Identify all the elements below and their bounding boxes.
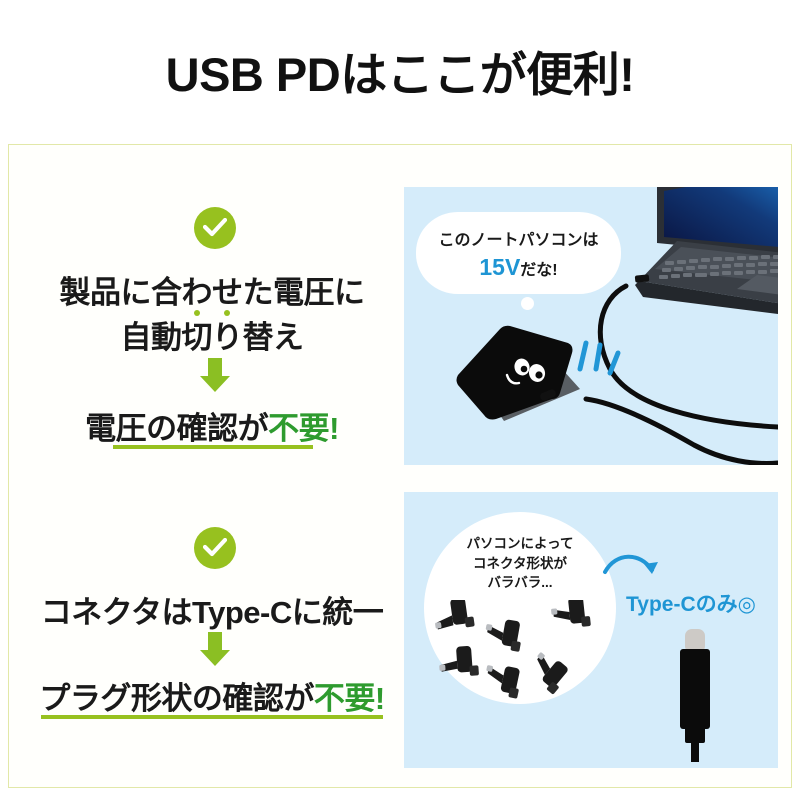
sparkle-1 xyxy=(580,343,586,369)
arrow-stem xyxy=(208,632,222,650)
plugs-caption-line-3: バラバラ... xyxy=(424,573,616,593)
plugs-caption-line-2: コネクタ形状が xyxy=(424,554,616,574)
illustration-panel-connector: パソコンによって コネクタ形状が バラバラ... xyxy=(404,492,778,768)
check-circle-icon xyxy=(194,527,236,569)
typec-label: Type-Cのみ◎ xyxy=(626,588,756,618)
pupil-left xyxy=(521,366,528,373)
benefit-2-result-prefix: プラグ形状の確認が xyxy=(39,681,314,716)
benefits-column: 製品に合わせた電圧に 自動切り替え 電圧の確認が不要! xyxy=(17,145,407,789)
page-title: USB PDはここが便利! xyxy=(0,36,800,105)
benefit-1-result: 電圧の確認が不要! xyxy=(17,403,407,448)
power-bank-body xyxy=(457,326,573,420)
benefit-1-result-highlight: 不要! xyxy=(268,411,339,446)
bubble-voltage: 15V xyxy=(479,254,520,280)
benefit-2-line-1: コネクタはType-Cに統一 xyxy=(17,587,407,632)
usb-c-connector xyxy=(674,627,722,762)
barrel-plug xyxy=(432,600,475,632)
checkmark-icon xyxy=(203,218,227,238)
bubble-line-2: 15Vだな! xyxy=(479,254,557,281)
illustration-panel-voltage: このノートパソコンは 15Vだな! xyxy=(404,187,778,465)
usbc-cable xyxy=(691,739,699,762)
bubble-suffix: だな! xyxy=(520,262,557,279)
bubble-line-1: このノートパソコンは xyxy=(438,226,598,250)
usbc-housing xyxy=(680,649,710,729)
benefit-2-result-highlight: 不要! xyxy=(314,681,385,716)
sparkle-3 xyxy=(610,353,618,373)
arrow-down-icon xyxy=(205,632,225,666)
benefit-2-result: プラグ形状の確認が不要! xyxy=(17,673,407,718)
checkmark-icon xyxy=(203,538,227,558)
arrow-stem xyxy=(208,358,222,376)
curved-arrow-icon xyxy=(602,550,664,590)
content-card: 製品に合わせた電圧に 自動切り替え 電圧の確認が不要! xyxy=(8,144,792,788)
speech-bubble: このノートパソコンは 15Vだな! xyxy=(416,212,621,294)
benefit-1-result-prefix: 電圧の確認が xyxy=(85,411,268,446)
barrel-plug xyxy=(525,648,573,695)
barrel-plug xyxy=(550,600,591,630)
benefit-2-underline xyxy=(41,715,383,719)
barrel-plug xyxy=(483,616,525,652)
plugs-caption-line-1: パソコンによって xyxy=(424,534,616,554)
plugs-caption: パソコンによって コネクタ形状が バラバラ... xyxy=(424,534,616,593)
pupil-right xyxy=(535,371,542,378)
arrow-head xyxy=(200,650,230,666)
arrow-down-icon xyxy=(205,358,225,392)
sparkle-lines xyxy=(572,335,632,385)
arrow-head xyxy=(200,376,230,392)
page-root: USB PDはここが便利! 製品に合わせた電圧に 自動切り替え xyxy=(0,0,800,800)
barrel-plug xyxy=(438,645,479,678)
cable-to-bank xyxy=(586,399,778,463)
benefit-1-line-2: 自動切り替え xyxy=(17,312,407,357)
barrel-plug xyxy=(482,662,523,699)
arrow-head xyxy=(644,562,658,574)
speech-bubble-tail xyxy=(521,297,534,310)
barrel-plugs-group xyxy=(426,600,616,710)
check-circle-icon xyxy=(194,207,236,249)
benefit-1-underline xyxy=(113,445,313,449)
sparkle-2 xyxy=(596,345,600,369)
